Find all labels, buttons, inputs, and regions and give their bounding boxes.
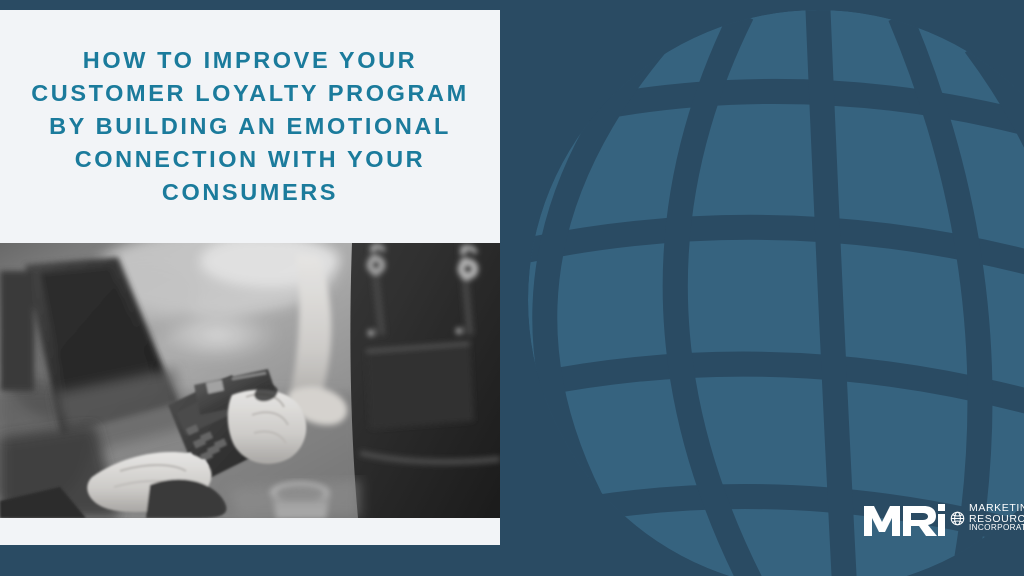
logo-line-incorporated: INCORPORATED	[969, 524, 1024, 532]
page-title: HOW TO IMPROVE YOUR CUSTOMER LOYALTY PRO…	[31, 44, 469, 210]
content-card: HOW TO IMPROVE YOUR CUSTOMER LOYALTY PRO…	[0, 10, 500, 545]
logo-text-block: MARKETING RESOURCES INCORPORATED	[969, 503, 1024, 532]
mri-wordmark-icon	[862, 498, 946, 538]
photo-bottom-strip	[0, 518, 500, 545]
top-accent-strip	[0, 0, 512, 10]
hero-photo	[0, 243, 500, 518]
globe-icon	[950, 511, 965, 526]
mri-logo: MARKETING RESOURCES INCORPORATED	[862, 496, 1012, 540]
slide-canvas: HOW TO IMPROVE YOUR CUSTOMER LOYALTY PRO…	[0, 0, 1024, 576]
hero-photo-image	[0, 243, 500, 518]
title-block: HOW TO IMPROVE YOUR CUSTOMER LOYALTY PRO…	[0, 10, 500, 243]
